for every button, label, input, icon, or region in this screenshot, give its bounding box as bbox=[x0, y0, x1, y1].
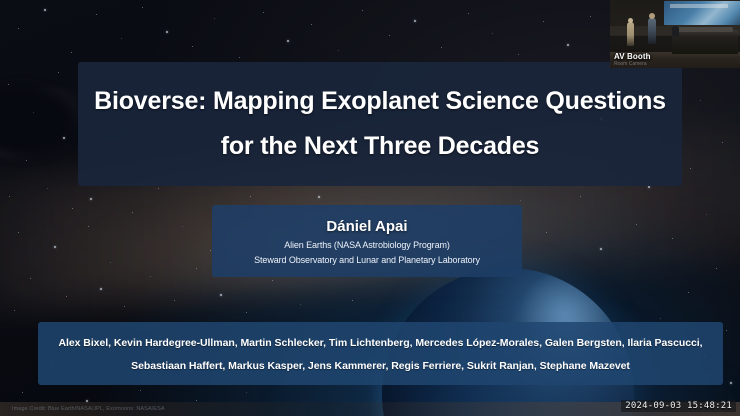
projection-screen bbox=[664, 1, 740, 25]
room-rear-wall bbox=[610, 0, 666, 26]
presentation-recording-frame: Bioverse: Mapping Exoplanet Science Ques… bbox=[0, 0, 740, 416]
av-console-desk bbox=[672, 30, 738, 54]
presenter-affiliation-2: Steward Observatory and Lunar and Planet… bbox=[212, 253, 522, 268]
slide-title-line-1: Bioverse: Mapping Exoplanet Science Ques… bbox=[78, 79, 682, 124]
recording-timestamp: 2024-09-03 15:48:21 bbox=[621, 400, 736, 412]
presenter-panel: Dániel Apai Alien Earths (NASA Astrobiol… bbox=[212, 205, 522, 277]
webcam-pip-av-booth[interactable]: AV Booth Room Camera bbox=[610, 0, 740, 68]
image-credit: Image Credit: Blue Earth/NASA/JPL, Exomo… bbox=[12, 406, 165, 412]
presenter-affiliation-1: Alien Earths (NASA Astrobiology Program) bbox=[212, 238, 522, 253]
person-standing-right bbox=[648, 18, 656, 44]
person-standing-left bbox=[627, 22, 634, 46]
webcam-participant-sublabel: Room Camera bbox=[614, 61, 647, 67]
coauthor-line-2: Sebastiaan Haffert, Markus Kasper, Jens … bbox=[38, 355, 723, 378]
webcam-participant-label: AV Booth bbox=[614, 52, 651, 61]
slide-title-panel: Bioverse: Mapping Exoplanet Science Ques… bbox=[78, 62, 682, 186]
coauthor-line-1: Alex Bixel, Kevin Hardegree-Ullman, Mart… bbox=[38, 332, 723, 355]
presenter-name: Dániel Apai bbox=[212, 216, 522, 238]
person-seated-at-console bbox=[672, 26, 679, 36]
slide-title-line-2: for the Next Three Decades bbox=[78, 124, 682, 169]
coauthor-panel: Alex Bixel, Kevin Hardegree-Ullman, Mart… bbox=[38, 322, 723, 385]
